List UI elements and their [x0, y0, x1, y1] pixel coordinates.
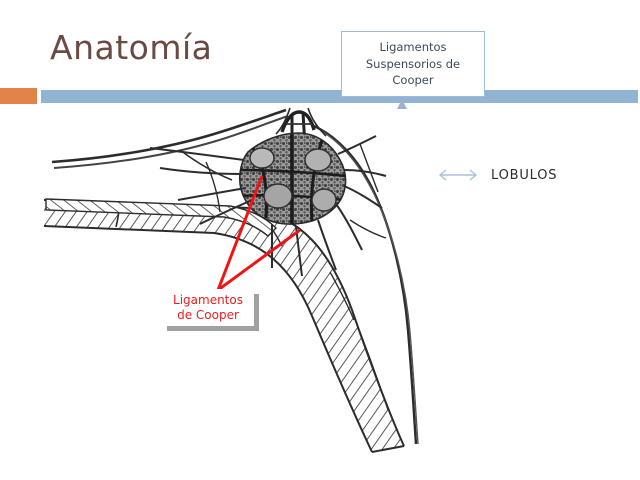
cooper-ligaments-label-box[interactable]: Ligamentos de Cooper [162, 289, 254, 326]
page-title: Anatomía [50, 28, 212, 67]
cooper-ligament-leader-lines [0, 100, 640, 470]
callout-label: Ligamentos Suspensorios de Cooper [342, 39, 484, 89]
slide-canvas: Anatomía [0, 0, 640, 480]
callout-pointer-triangle-icon [397, 99, 407, 109]
suspensory-ligaments-callout[interactable]: Ligamentos Suspensorios de Cooper [341, 31, 485, 97]
cooper-ligaments-label: Ligamentos de Cooper [173, 293, 243, 323]
